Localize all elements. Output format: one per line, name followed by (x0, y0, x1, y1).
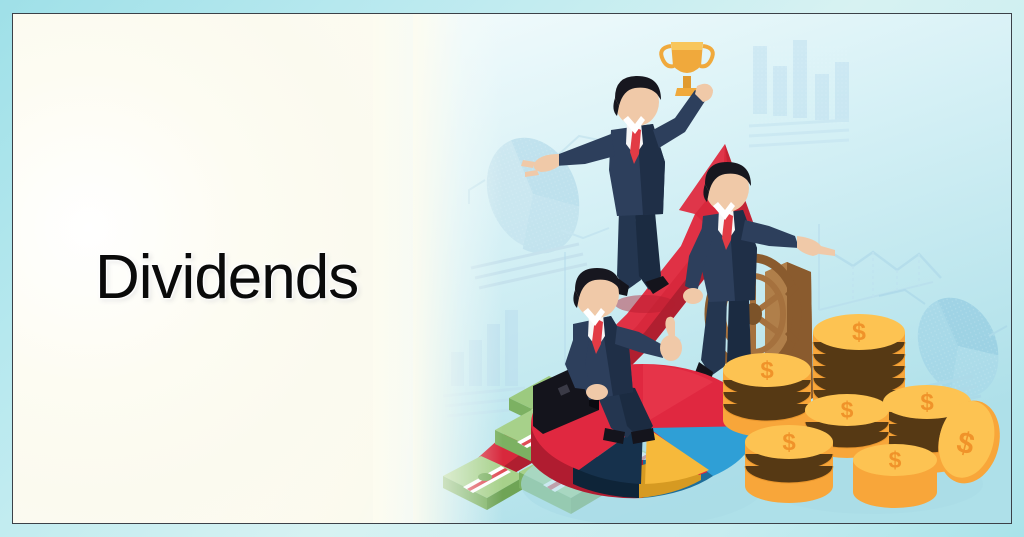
dollar-sign-icon: $ (852, 318, 866, 346)
left-title-panel: Dividends (13, 14, 433, 523)
slide-root: Dividends (0, 0, 1024, 537)
coin-stack-front-right: $ (853, 444, 937, 508)
dollar-sign-icon: $ (889, 447, 902, 473)
slide-canvas: Dividends (12, 13, 1012, 524)
dollar-sign-icon: $ (782, 429, 796, 456)
dollar-sign-icon: $ (760, 357, 774, 384)
coin-stack-left: $ (723, 353, 811, 437)
dollar-sign-icon: $ (841, 397, 854, 423)
illustration-area: $ $ (413, 14, 1012, 524)
page-title: Dividends (95, 242, 425, 313)
dollar-sign-icon: $ (920, 389, 934, 416)
coin-stack-front: $ (745, 425, 833, 503)
isometric-financial-illustration: $ $ (413, 14, 1012, 524)
